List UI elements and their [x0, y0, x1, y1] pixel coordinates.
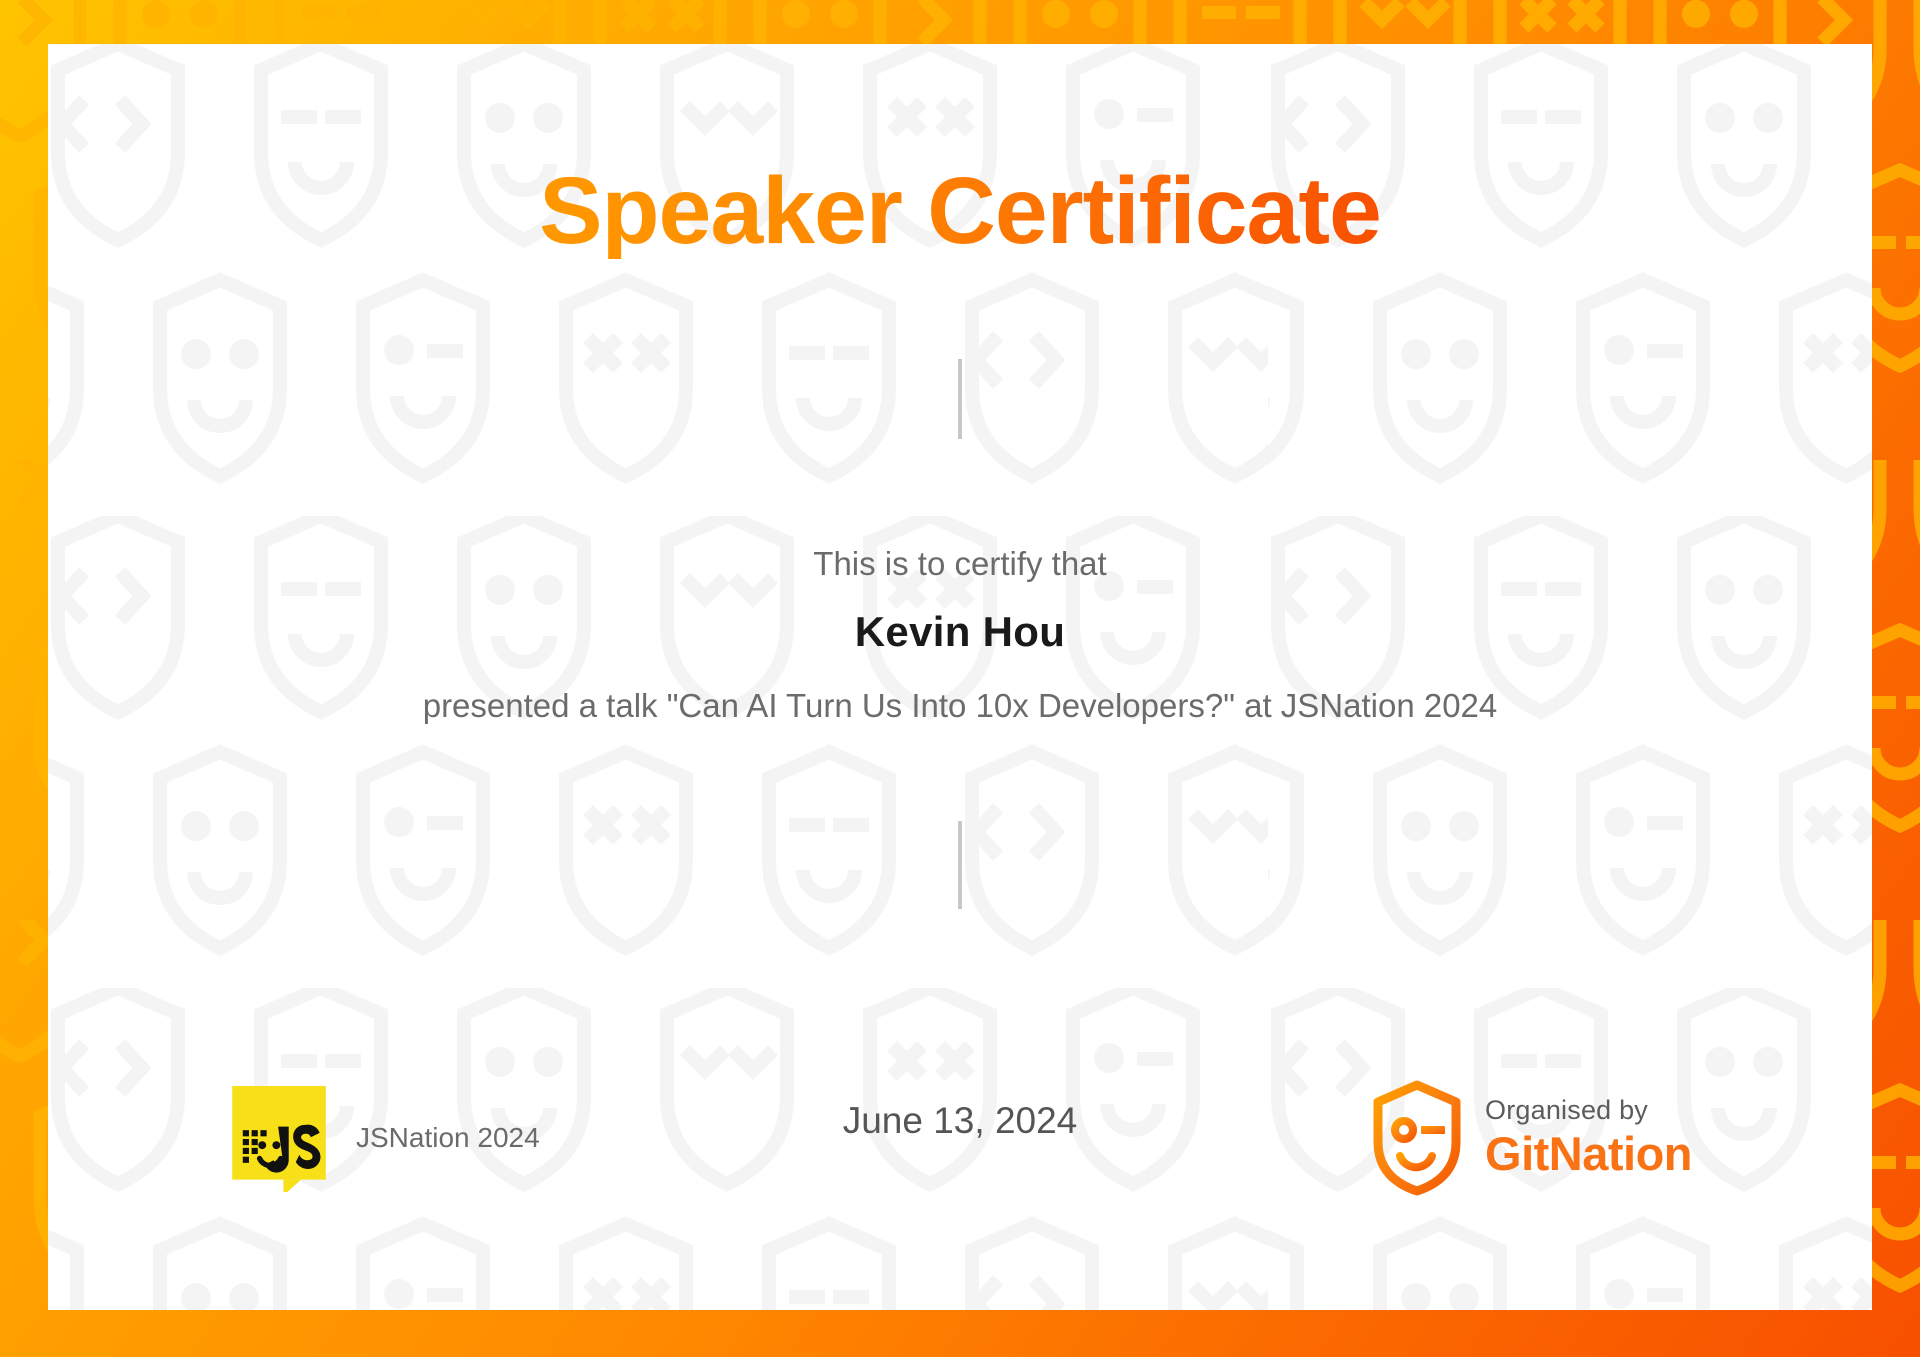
divider-top [958, 359, 962, 439]
certify-text: This is to certify that [813, 545, 1106, 583]
organiser-text-block: Organised by GitNation [1485, 1096, 1692, 1179]
divider-bottom [958, 821, 962, 909]
certificate-footer: JSNation 2024 June 13, 2024 [48, 1086, 1872, 1206]
certificate-canvas: Speaker Certificate This is to certify t… [0, 0, 1920, 1357]
certificate-panel: Speaker Certificate This is to certify t… [48, 44, 1872, 1310]
organised-by-label: Organised by [1485, 1096, 1692, 1126]
organiser-name: GitNation [1485, 1128, 1692, 1180]
recipient-name: Kevin Hou [855, 608, 1065, 656]
footer-organiser-block: Organised by GitNation [1371, 1080, 1692, 1196]
gitnation-shield-icon [1371, 1080, 1463, 1196]
talk-description: presented a talk "Can AI Turn Us Into 10… [423, 687, 1498, 725]
page-title: Speaker Certificate [539, 164, 1381, 259]
